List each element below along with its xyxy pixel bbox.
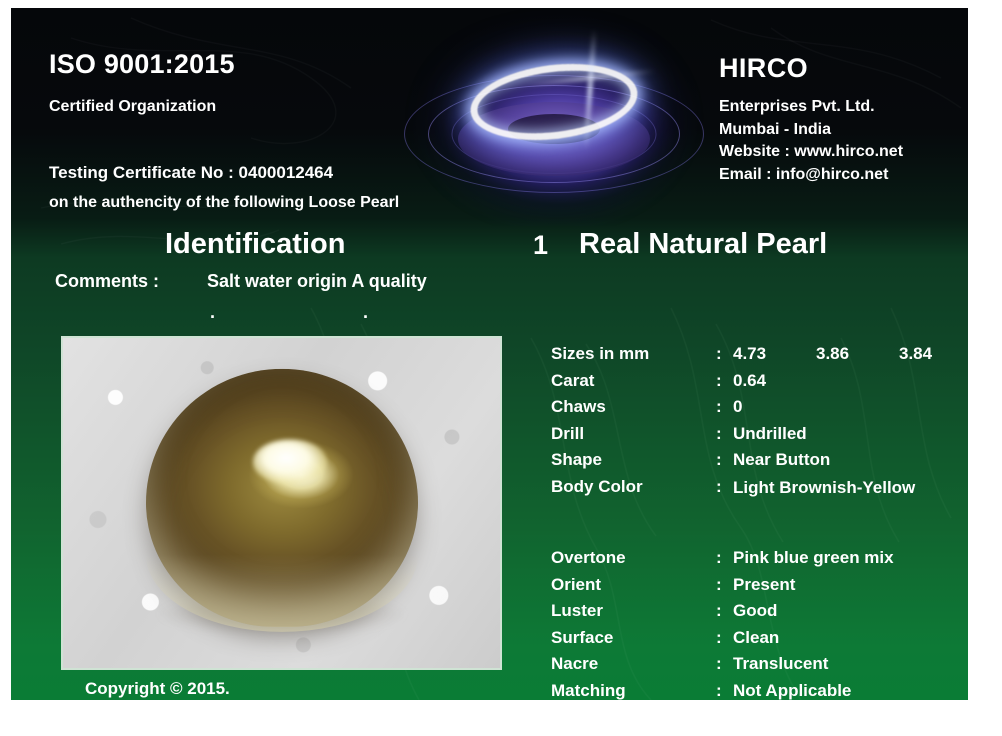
spec-value-drill: Undrilled xyxy=(733,424,807,444)
authenticity-statement: on the authencity of the following Loose… xyxy=(49,194,399,212)
spec-label-chaws: Chaws xyxy=(551,397,711,417)
identification-quantity: 1 xyxy=(533,230,548,261)
testing-certificate-number: Testing Certificate No : 0400012464 xyxy=(49,163,333,183)
spec-value-overtone: Pink blue green mix xyxy=(733,548,894,568)
specification-table: Sizes in mm : 4.73 3.86 3.84 Carat : 0.6… xyxy=(551,344,961,700)
spec-value-luster: Good xyxy=(733,601,777,621)
spec-value-orient: Present xyxy=(733,575,795,595)
spec-label-sizes: Sizes in mm xyxy=(551,344,711,364)
spec-colon-surface: : xyxy=(716,628,722,648)
spec-value-carat: 0.64 xyxy=(733,371,766,391)
spec-row-overtone: Overtone : Pink blue green mix xyxy=(551,548,961,575)
spec-colon-overtone: : xyxy=(716,548,722,568)
comments-label: Comments : xyxy=(55,271,159,292)
spec-label-luster: Luster xyxy=(551,601,711,621)
spec-value-chaws: 0 xyxy=(733,397,742,417)
spec-colon-matching: : xyxy=(716,681,722,700)
spec-row-orient: Orient : Present xyxy=(551,575,961,602)
spec-row-sizes: Sizes in mm : 4.73 3.86 3.84 xyxy=(551,344,961,371)
company-name: HIRCO xyxy=(719,53,808,84)
spec-value-shape: Near Button xyxy=(733,450,830,470)
iso-title: ISO 9001:2015 xyxy=(49,49,235,80)
pearl-object xyxy=(146,369,418,627)
spec-label-carat: Carat xyxy=(551,371,711,391)
spec-row-shape: Shape : Near Button xyxy=(551,450,961,477)
spec-colon-shape: : xyxy=(716,450,722,470)
identification-value: Real Natural Pearl xyxy=(579,228,827,261)
spec-label-drill: Drill xyxy=(551,424,711,444)
certificate-banner-image xyxy=(389,8,719,226)
spec-row-chaws: Chaws : 0 xyxy=(551,397,961,424)
spec-row-nacre: Nacre : Translucent xyxy=(551,654,961,681)
copyright-notice: Copyright © 2015. xyxy=(85,679,230,699)
spec-label-shape: Shape xyxy=(551,450,711,470)
spec-label-matching: Matching xyxy=(551,681,711,700)
spec-colon-orient: : xyxy=(716,575,722,595)
iso-subtitle: Certified Organization xyxy=(49,98,216,116)
spec-label-surface: Surface xyxy=(551,628,711,648)
spec-colon-chaws: : xyxy=(716,397,722,417)
spec-colon-nacre: : xyxy=(716,654,722,674)
spec-value-size-height: 3.84 xyxy=(899,344,932,364)
spec-label-orient: Orient xyxy=(551,575,711,595)
spec-row-body-color: Body Color : Light Brownish-Yellow xyxy=(551,477,961,548)
spec-value-surface: Clean xyxy=(733,628,779,648)
spec-value-size-length: 4.73 xyxy=(733,344,766,364)
spec-label-overtone: Overtone xyxy=(551,548,711,568)
spec-row-carat: Carat : 0.64 xyxy=(551,371,961,398)
spec-colon-carat: : xyxy=(716,371,722,391)
spec-value-size-width: 3.86 xyxy=(816,344,849,364)
spec-row-drill: Drill : Undrilled xyxy=(551,424,961,451)
spec-row-surface: Surface : Clean xyxy=(551,628,961,655)
spec-colon-body-color: : xyxy=(716,477,722,497)
spec-value-nacre: Translucent xyxy=(733,654,828,674)
company-contact-details: Enterprises Pvt. Ltd. Mumbai - India Web… xyxy=(719,96,903,186)
spec-row-luster: Luster : Good xyxy=(551,601,961,628)
spec-colon-sizes: : xyxy=(716,344,722,364)
pearl-certificate: ISO 9001:2015 Certified Organization Tes… xyxy=(11,8,968,700)
identification-label: Identification xyxy=(165,228,345,261)
spec-label-body-color: Body Color xyxy=(551,477,711,497)
pearl-photograph xyxy=(61,336,502,670)
spec-value-body-color: Light Brownish-Yellow xyxy=(733,477,958,499)
spec-colon-luster: : xyxy=(716,601,722,621)
spec-colon-drill: : xyxy=(716,424,722,444)
comments-value: Salt water origin A quality xyxy=(207,271,427,292)
comments-dot-left: . xyxy=(210,302,215,323)
comments-dot-right: . xyxy=(363,302,368,323)
spec-value-matching: Not Applicable xyxy=(733,681,851,700)
spec-row-matching: Matching : Not Applicable xyxy=(551,681,961,700)
spec-label-nacre: Nacre xyxy=(551,654,711,674)
